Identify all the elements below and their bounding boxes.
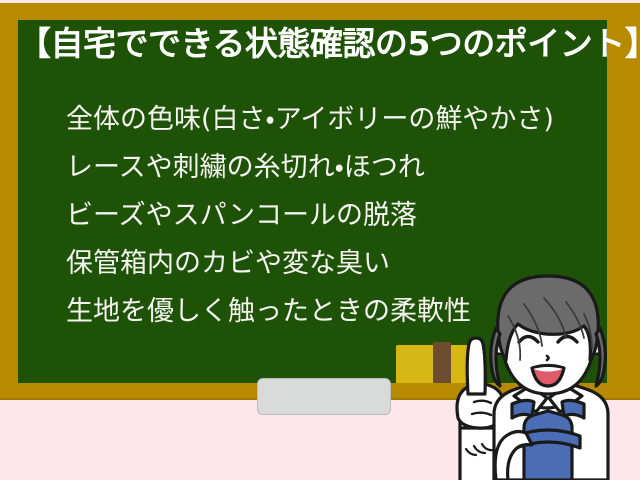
avatar bbox=[436, 268, 640, 480]
list-item: ビーズやスパンコールの脱落 bbox=[66, 192, 596, 240]
slide-canvas: 【自宅でできる状態確認の5つのポイント】 全体の色味(白さ・アイボリーの鮮やかさ… bbox=[0, 0, 640, 480]
page-title: 【自宅でできる状態確認の5つのポイント】 bbox=[18, 22, 607, 66]
blackboard-eraser bbox=[257, 378, 391, 415]
list-item: 全体の色味(白さ・アイボリーの鮮やかさ) bbox=[66, 96, 596, 144]
list-item: レースや刺繍の糸切れ・ほつれ bbox=[66, 144, 596, 192]
